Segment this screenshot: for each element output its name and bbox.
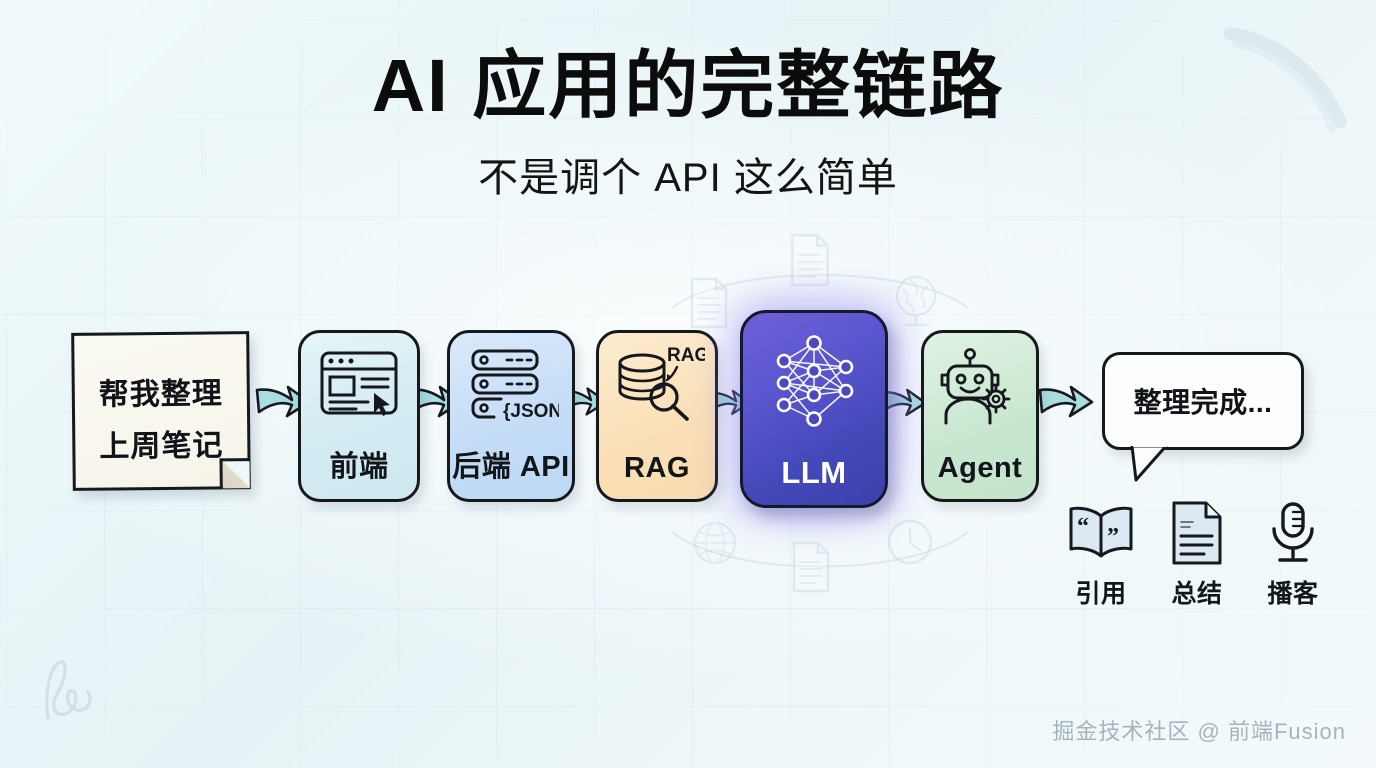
pipeline-node-frontend[interactable]: 前端 — [298, 330, 420, 502]
page-subtitle: 不是调个 API 这么简单 — [0, 145, 1376, 203]
database-search-icon: RAG — [609, 347, 705, 428]
output-label-quote: 引用 — [1075, 574, 1126, 610]
svg-text:“: “ — [1077, 514, 1089, 540]
server-stack-icon: {JSON} — [463, 347, 559, 428]
node-label-agent: Agent — [924, 452, 1036, 485]
response-speech-bubble: 整理完成... — [1102, 352, 1304, 450]
sticky-note-text: 帮我整理 上周笔记 — [75, 368, 248, 466]
open-book-quote-icon: “ ” — [1065, 500, 1137, 566]
svg-text:”: ” — [1107, 524, 1119, 550]
output-label-podcast: 播客 — [1267, 574, 1318, 610]
user-request-sticky-note: 帮我整理 上周笔记 — [71, 331, 251, 491]
output-item-quote[interactable]: “ ” 引用 — [1060, 500, 1142, 610]
browser-window-icon — [316, 347, 402, 426]
sticky-note-folded-corner — [219, 458, 249, 488]
page-title: AI 应用的完整链路 — [0, 48, 1376, 123]
microphone-icon — [1265, 500, 1321, 566]
rag-annotation-label: RAG — [667, 347, 705, 366]
sticky-note-line-1: 帮我整理 — [75, 368, 247, 414]
document-lines-icon — [1168, 500, 1226, 566]
pipeline-node-backend-api[interactable]: {JSON} 后端 API — [447, 330, 575, 502]
node-label-llm: LLM — [743, 455, 885, 491]
neural-network-icon — [762, 333, 866, 436]
diagram-canvas: AI 应用的完整链路 不是调个 API 这么简单 帮我整理 上周笔记 — [0, 0, 1376, 768]
speech-bubble-tail — [1130, 446, 1170, 482]
header: AI 应用的完整链路 不是调个 API 这么简单 — [0, 0, 1376, 203]
pipeline-node-rag[interactable]: RAG RAG — [596, 330, 718, 502]
server-json-badge: {JSON} — [503, 401, 559, 422]
response-bubble-text: 整理完成... — [1134, 381, 1273, 421]
node-label-rag: RAG — [599, 452, 715, 485]
node-label-frontend: 前端 — [301, 443, 417, 485]
output-label-summary: 总结 — [1171, 574, 1222, 610]
output-formats-list: “ ” 引用 总结 — [1060, 500, 1336, 610]
output-item-summary[interactable]: 总结 — [1156, 500, 1238, 610]
arrow-agent-to-response — [1035, 372, 1097, 430]
watermark: 掘金技术社区 @ 前端Fusion — [1052, 714, 1346, 746]
pipeline-node-llm[interactable]: LLM — [740, 310, 888, 508]
pipeline-node-agent[interactable]: Agent — [921, 330, 1039, 502]
output-item-podcast[interactable]: 播客 — [1252, 500, 1334, 610]
node-label-backend-api: 后端 API — [450, 443, 572, 485]
robot-gear-icon — [934, 347, 1026, 432]
